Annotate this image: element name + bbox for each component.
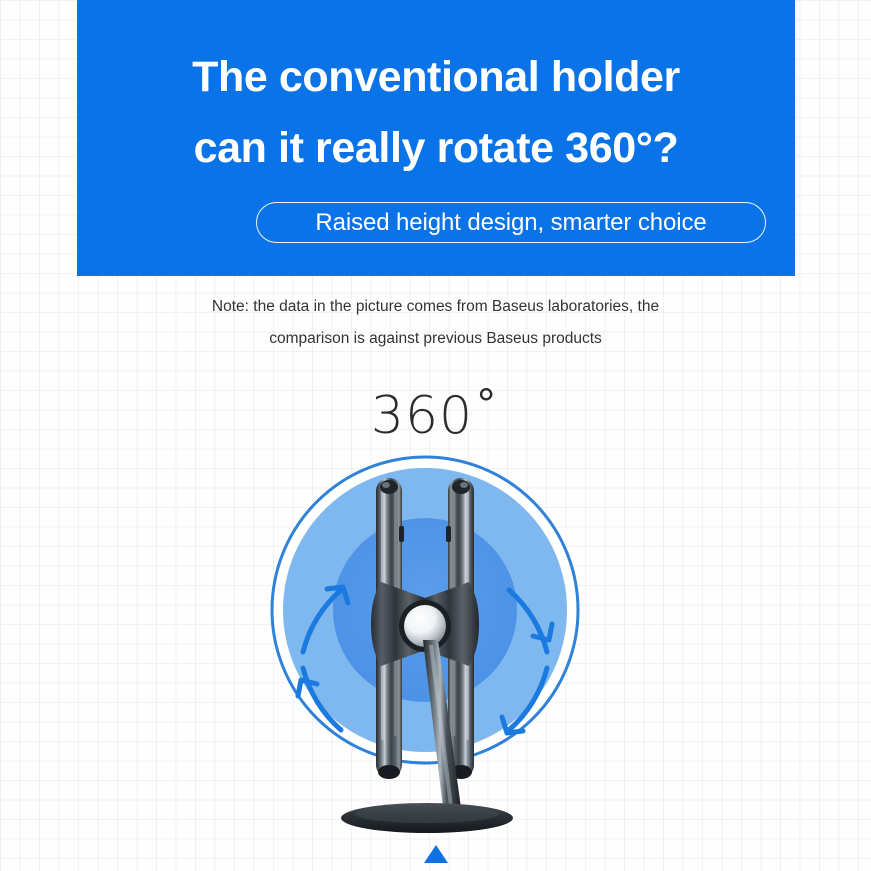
subtitle-pill: Raised height design, smarter choice [256, 202, 766, 243]
headline-line-2: can it really rotate 360°? [77, 113, 795, 184]
product-illustration [195, 440, 655, 860]
note-line-2: comparison is against previous Baseus pr… [0, 323, 871, 355]
subtitle-text: Raised height design, smarter choice [315, 209, 706, 237]
product-marketing-page: The conventional holder can it really ro… [0, 0, 871, 871]
hero-banner: The conventional holder can it really ro… [77, 0, 795, 276]
disclaimer-note: Note: the data in the picture comes from… [0, 291, 871, 355]
rotation-degree-label: 360˚ [0, 386, 871, 446]
page-title: The conventional holder can it really ro… [77, 42, 795, 184]
headline-line-1: The conventional holder [77, 42, 795, 113]
scroll-down-marker-icon[interactable] [424, 845, 448, 863]
stand-base-top-highlight [355, 805, 499, 823]
note-line-1: Note: the data in the picture comes from… [0, 291, 871, 323]
